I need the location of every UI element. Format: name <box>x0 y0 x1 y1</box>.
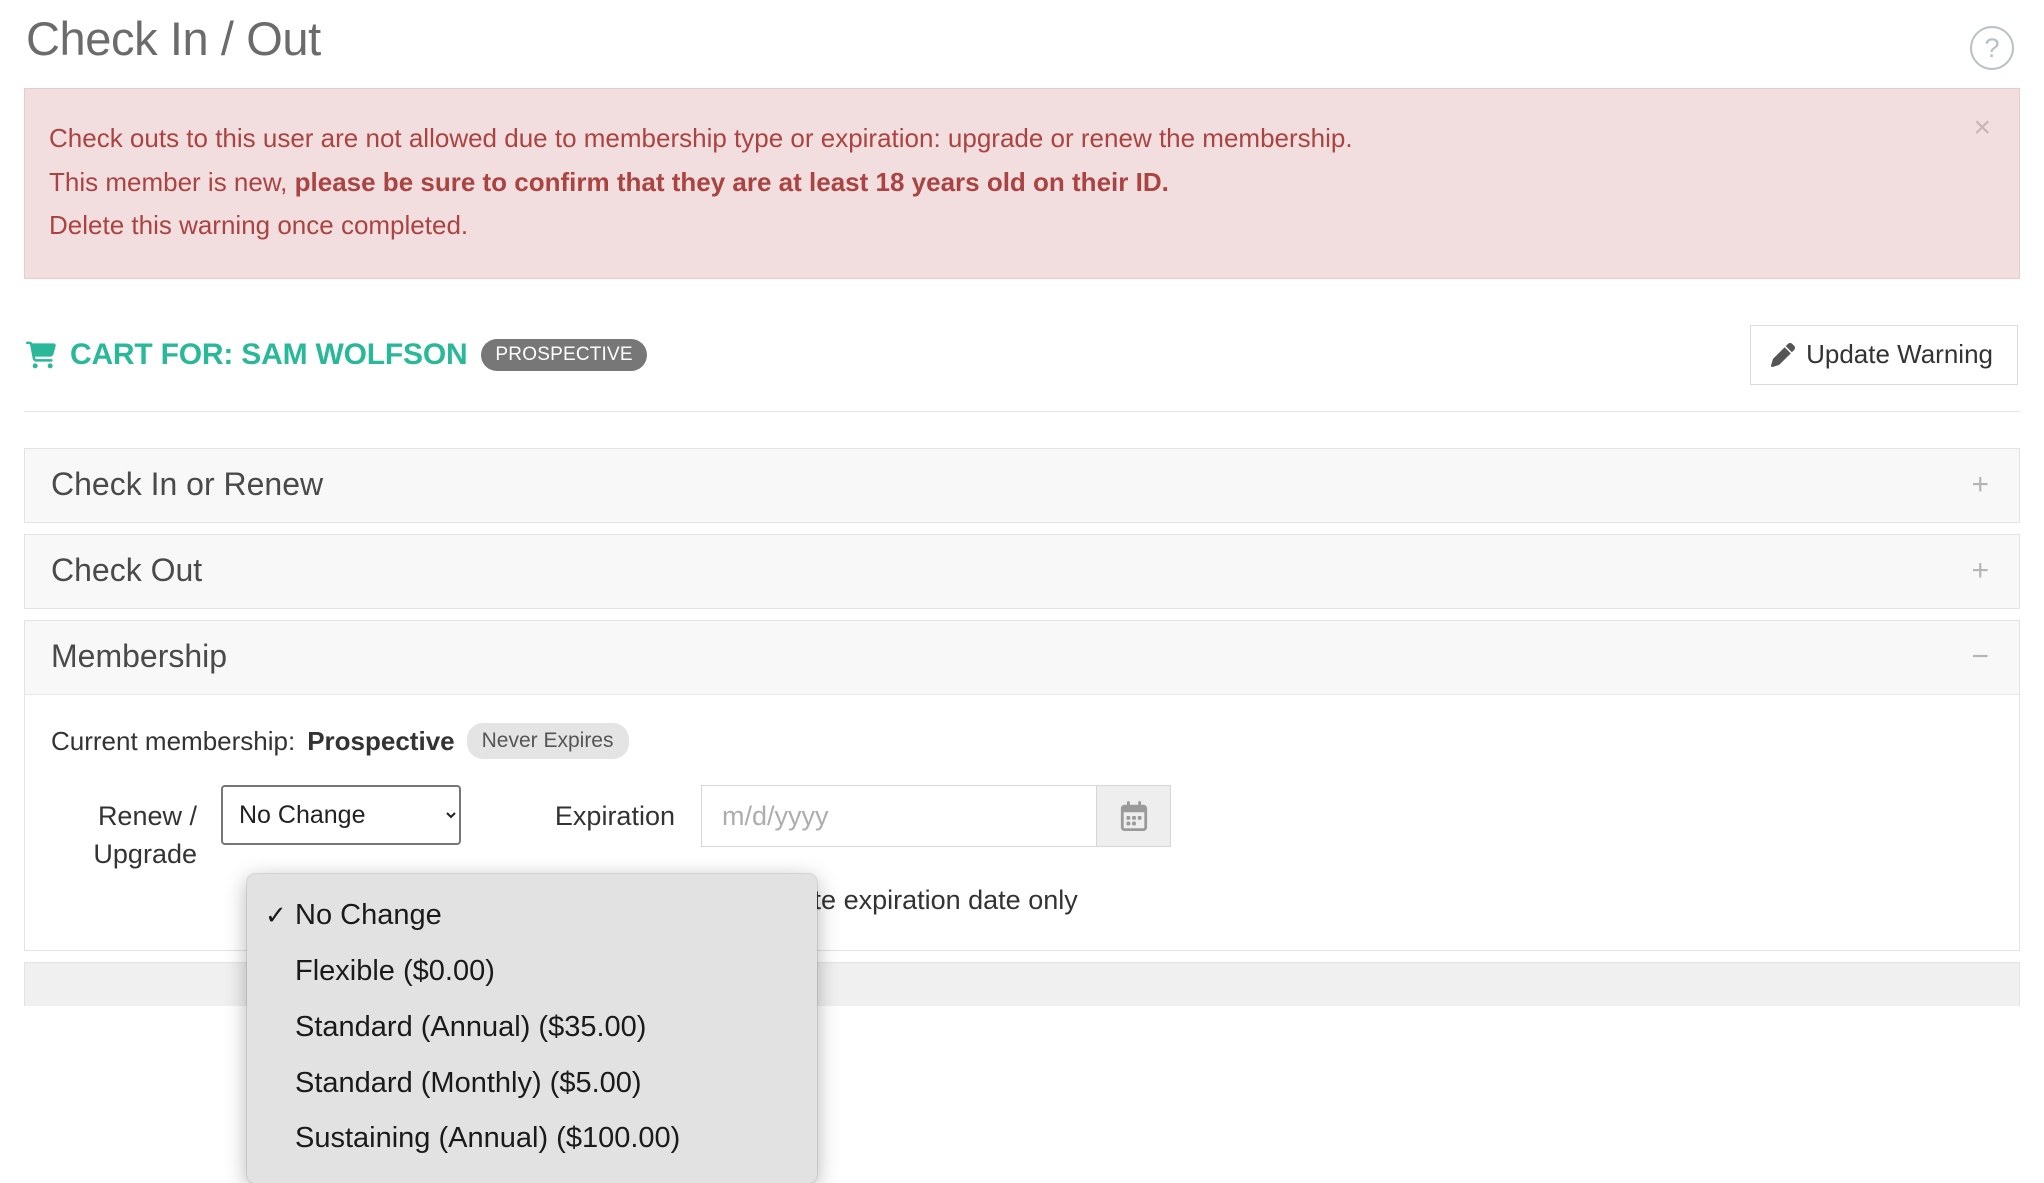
pencil-icon <box>1771 343 1795 367</box>
panel-check-in-or-renew: Check In or Renew + <box>24 448 2020 523</box>
check-icon-placeholder: ✓ <box>265 1010 295 1045</box>
calendar-icon[interactable] <box>1096 785 1171 847</box>
cart-header-row: CART FOR: SAM WOLFSON PROSPECTIVE Update… <box>24 325 2020 412</box>
current-membership-value: Prospective <box>307 726 454 757</box>
renew-upgrade-field: Renew / Upgrade No Change <box>51 785 461 874</box>
dropdown-option-sustaining-annual[interactable]: ✓ Sustaining (Annual) ($100.00) <box>247 1111 817 1167</box>
alert-line-3: Delete this warning once completed. <box>49 204 1959 248</box>
dropdown-option-label: Standard (Monthly) ($5.00) <box>295 1064 642 1103</box>
dropdown-option-flexible[interactable]: ✓ Flexible ($0.00) <box>247 944 817 1000</box>
plus-icon[interactable]: + <box>1971 470 1993 500</box>
expiration-input-group <box>701 785 1171 847</box>
renew-upgrade-label: Renew / Upgrade <box>51 785 221 874</box>
panel-header-check-out[interactable]: Check Out + <box>25 535 2019 608</box>
dropdown-option-label: No Change <box>295 896 442 935</box>
cart-title: CART FOR: SAM WOLFSON <box>70 338 467 372</box>
update-warning-label: Update Warning <box>1806 339 1993 370</box>
dropdown-option-no-change[interactable]: ✓ No Change <box>247 888 817 944</box>
minus-icon[interactable]: − <box>1971 642 1993 672</box>
dropdown-option-standard-annual[interactable]: ✓ Standard (Annual) ($35.00) <box>247 1000 817 1056</box>
check-in-out-page: Check In / Out ? × Check outs to this us… <box>0 0 2044 1156</box>
dropdown-option-label: Flexible ($0.00) <box>295 952 495 991</box>
help-icon[interactable]: ? <box>1970 26 2014 70</box>
renew-upgrade-dropdown-menu[interactable]: ✓ No Change ✓ Flexible ($0.00) ✓ Standar… <box>247 874 817 1183</box>
status-badge: PROSPECTIVE <box>481 339 646 371</box>
current-membership-label: Current membership: <box>51 726 295 757</box>
expiration-label: Expiration <box>461 785 701 835</box>
alert-line-2-bold: please be sure to confirm that they are … <box>295 167 1169 197</box>
renew-upgrade-select[interactable]: No Change <box>221 785 461 845</box>
renew-upgrade-label-line1: Renew / <box>51 797 197 835</box>
update-warning-button[interactable]: Update Warning <box>1750 325 2018 385</box>
alert-line-1: Check outs to this user are not allowed … <box>49 117 1959 161</box>
close-icon[interactable]: × <box>1965 109 1999 147</box>
panel-title-membership: Membership <box>51 638 227 675</box>
panel-check-out: Check Out + <box>24 534 2020 609</box>
check-icon-placeholder: ✓ <box>265 1121 295 1156</box>
plus-icon[interactable]: + <box>1971 556 1993 586</box>
expiration-date-input[interactable] <box>701 785 1096 847</box>
never-expires-badge: Never Expires <box>467 723 629 759</box>
alert-line-3-text: Delete this warning once completed. <box>49 210 468 240</box>
check-icon: ✓ <box>265 898 295 933</box>
current-membership: Current membership: Prospective Never Ex… <box>51 723 1993 759</box>
alert-line-2-text: This member is new, <box>49 167 295 197</box>
panel-title-check-out: Check Out <box>51 552 202 589</box>
cart-header-left: CART FOR: SAM WOLFSON PROSPECTIVE <box>24 338 647 372</box>
page-header: Check In / Out ? <box>24 0 2020 88</box>
shopping-cart-icon <box>26 341 56 369</box>
dropdown-option-label: Standard (Annual) ($35.00) <box>295 1008 646 1047</box>
alert-line-2: This member is new, please be sure to co… <box>49 161 1959 205</box>
alert-line-1-text: Check outs to this user are not allowed … <box>49 123 1353 153</box>
warning-alert: × Check outs to this user are not allowe… <box>24 88 2020 279</box>
check-icon-placeholder: ✓ <box>265 954 295 989</box>
panel-header-membership[interactable]: Membership − <box>25 621 2019 694</box>
dropdown-option-label: Sustaining (Annual) ($100.00) <box>295 1119 680 1158</box>
dropdown-option-standard-monthly[interactable]: ✓ Standard (Monthly) ($5.00) <box>247 1056 817 1112</box>
check-icon-placeholder: ✓ <box>265 1066 295 1101</box>
renew-upgrade-label-line2: Upgrade <box>51 835 197 873</box>
panel-title-check-in-or-renew: Check In or Renew <box>51 466 323 503</box>
panel-header-check-in-or-renew[interactable]: Check In or Renew + <box>25 449 2019 522</box>
renew-upgrade-select-wrap: No Change <box>221 785 461 845</box>
page-title: Check In / Out <box>24 14 321 63</box>
